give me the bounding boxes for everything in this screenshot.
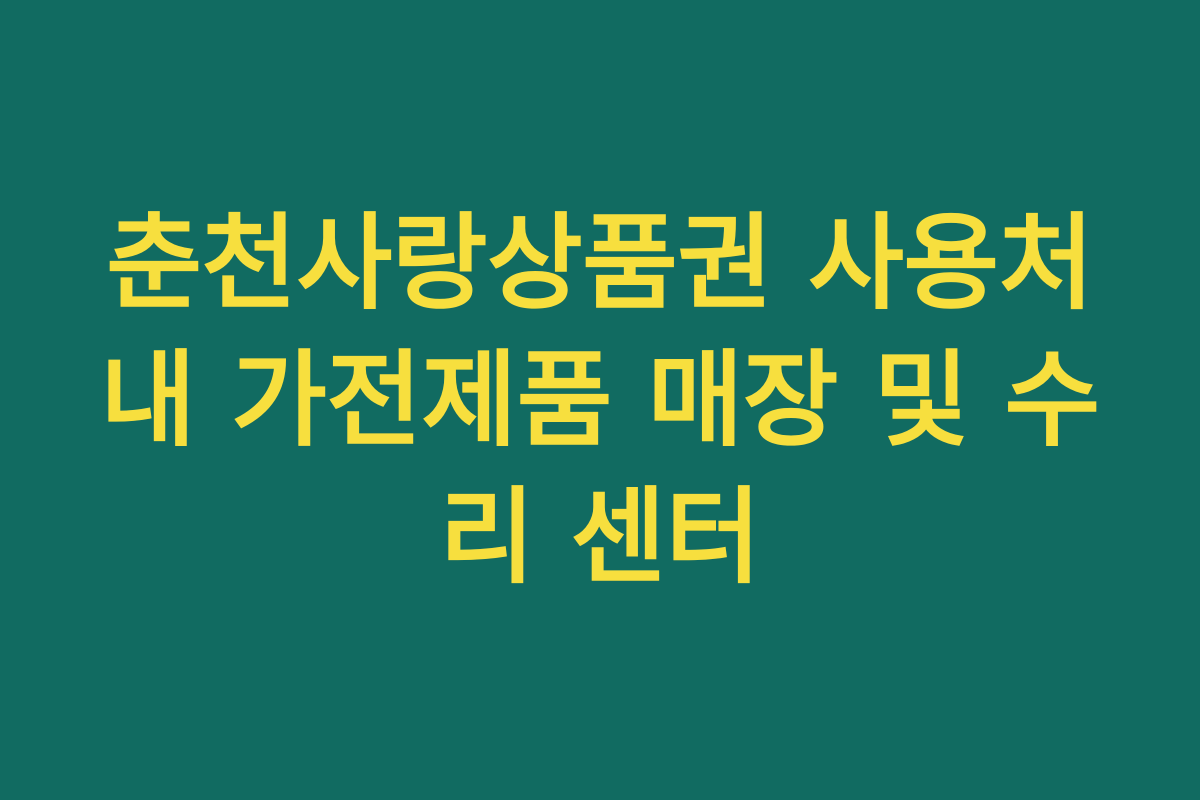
title-line-3: 리 센터: [70, 469, 1130, 606]
title-line-1: 춘천사랑상품권 사용처: [70, 195, 1130, 332]
banner-background: 춘천사랑상품권 사용처 내 가전제품 매장 및 수 리 센터: [0, 0, 1200, 800]
page-title: 춘천사랑상품권 사용처 내 가전제품 매장 및 수 리 센터: [70, 195, 1130, 606]
title-line-2: 내 가전제품 매장 및 수: [70, 332, 1130, 469]
